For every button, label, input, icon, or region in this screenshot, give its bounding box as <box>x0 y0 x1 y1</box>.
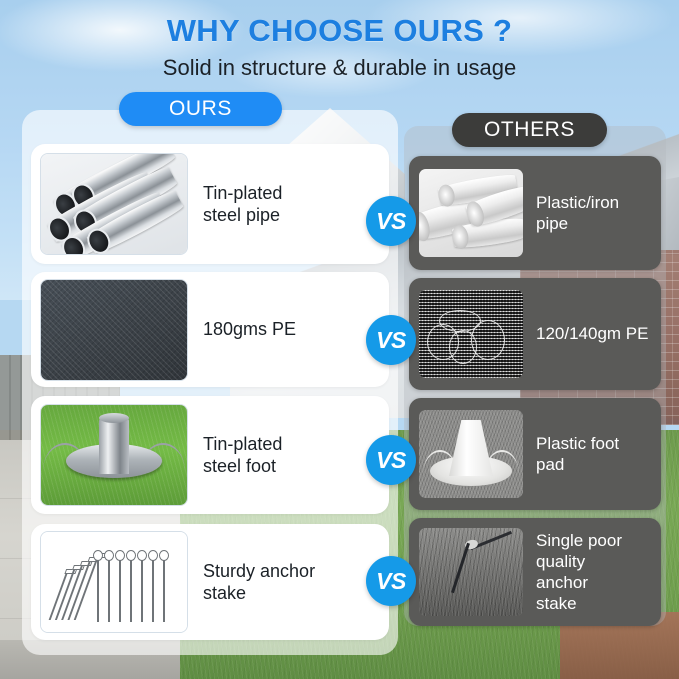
others-badge: OTHERS <box>452 113 607 147</box>
ours-row-4: Sturdy anchor stake <box>31 524 389 640</box>
others-thumbnail-thin-mesh <box>419 290 523 378</box>
others-row-3-label-line1: Plastic foot <box>536 433 619 454</box>
others-row-4: Single poor quality anchor stake <box>409 518 661 626</box>
others-row-4-label-line2: quality <box>536 551 622 572</box>
comparison-infographic: WHY CHOOSE OURS ? Solid in structure & d… <box>0 0 679 679</box>
others-thumbnail-poor-stake <box>419 528 523 616</box>
ours-thumbnail-steel-pipe <box>40 153 188 255</box>
others-badge-label: OTHERS <box>484 118 575 142</box>
ours-row-4-label: Sturdy anchor stake <box>203 560 315 605</box>
ours-thumbnail-anchor-stakes <box>40 531 188 633</box>
ours-badge: OURS <box>119 92 282 126</box>
ours-row-2-label-line1: 180gms PE <box>203 318 296 341</box>
ours-row-1: Tin-plated steel pipe <box>31 144 389 264</box>
ours-row-1-label-line1: Tin-plated <box>203 182 282 205</box>
others-row-1-label-line2: pipe <box>536 213 619 234</box>
thin-mesh-icon <box>419 290 523 378</box>
ours-thumbnail-steel-foot <box>40 404 188 506</box>
ours-row-2: 180gms PE <box>31 272 389 387</box>
others-row-1: Plastic/iron pipe <box>409 156 661 270</box>
page-subtitle: Solid in structure & durable in usage <box>0 55 679 80</box>
ours-badge-label: OURS <box>169 97 232 121</box>
pe-fabric-swatch-icon <box>41 280 187 380</box>
anchor-stakes-icon <box>41 532 187 632</box>
vs-badge-label: VS <box>376 327 406 354</box>
others-row-2-label: 120/140gm PE <box>536 323 654 344</box>
steel-foot-pad-icon <box>41 405 187 505</box>
vs-badge-row-4: VS <box>366 556 416 606</box>
others-row-4-label-line1: Single poor <box>536 530 622 551</box>
vs-badge-label: VS <box>376 208 406 235</box>
vs-badge-row-3: VS <box>366 435 416 485</box>
others-row-2-label-line1: 120/140gm PE <box>536 323 648 344</box>
ours-row-3-label-line1: Tin-plated <box>203 433 282 456</box>
others-row-3-label-line2: pad <box>536 454 619 475</box>
ours-row-1-label-line2: steel pipe <box>203 204 282 227</box>
others-thumbnail-pvc-pipe <box>419 169 523 257</box>
pvc-pipes-icon <box>419 169 523 257</box>
poor-anchor-stake-icon <box>419 528 523 616</box>
ours-row-2-label: 180gms PE <box>203 318 296 341</box>
plastic-foot-pad-icon <box>419 410 523 498</box>
vs-badge-label: VS <box>376 447 406 474</box>
others-row-4-label: Single poor quality anchor stake <box>536 530 628 615</box>
ours-row-4-label-line1: Sturdy anchor <box>203 560 315 583</box>
page-title: WHY CHOOSE OURS ? <box>0 14 679 48</box>
others-row-3-label: Plastic foot pad <box>536 433 625 476</box>
vs-badge-label: VS <box>376 568 406 595</box>
ours-row-3-label: Tin-plated steel foot <box>203 433 282 478</box>
vs-badge-row-2: VS <box>366 315 416 365</box>
ours-row-4-label-line2: stake <box>203 582 315 605</box>
ours-row-3: Tin-plated steel foot <box>31 396 389 514</box>
ours-thumbnail-pe-fabric <box>40 279 188 381</box>
others-row-4-label-line3: anchor <box>536 572 622 593</box>
others-row-4-label-line4: stake <box>536 593 622 614</box>
others-row-2: 120/140gm PE <box>409 278 661 390</box>
ours-row-1-label: Tin-plated steel pipe <box>203 182 282 227</box>
others-thumbnail-plastic-foot <box>419 410 523 498</box>
others-row-1-label: Plastic/iron pipe <box>536 192 625 235</box>
ours-row-3-label-line2: steel foot <box>203 455 282 478</box>
steel-pipes-icon <box>41 154 187 254</box>
others-row-3: Plastic foot pad <box>409 398 661 510</box>
others-row-1-label-line1: Plastic/iron <box>536 192 619 213</box>
vs-badge-row-1: VS <box>366 196 416 246</box>
header: WHY CHOOSE OURS ? Solid in structure & d… <box>0 14 679 80</box>
